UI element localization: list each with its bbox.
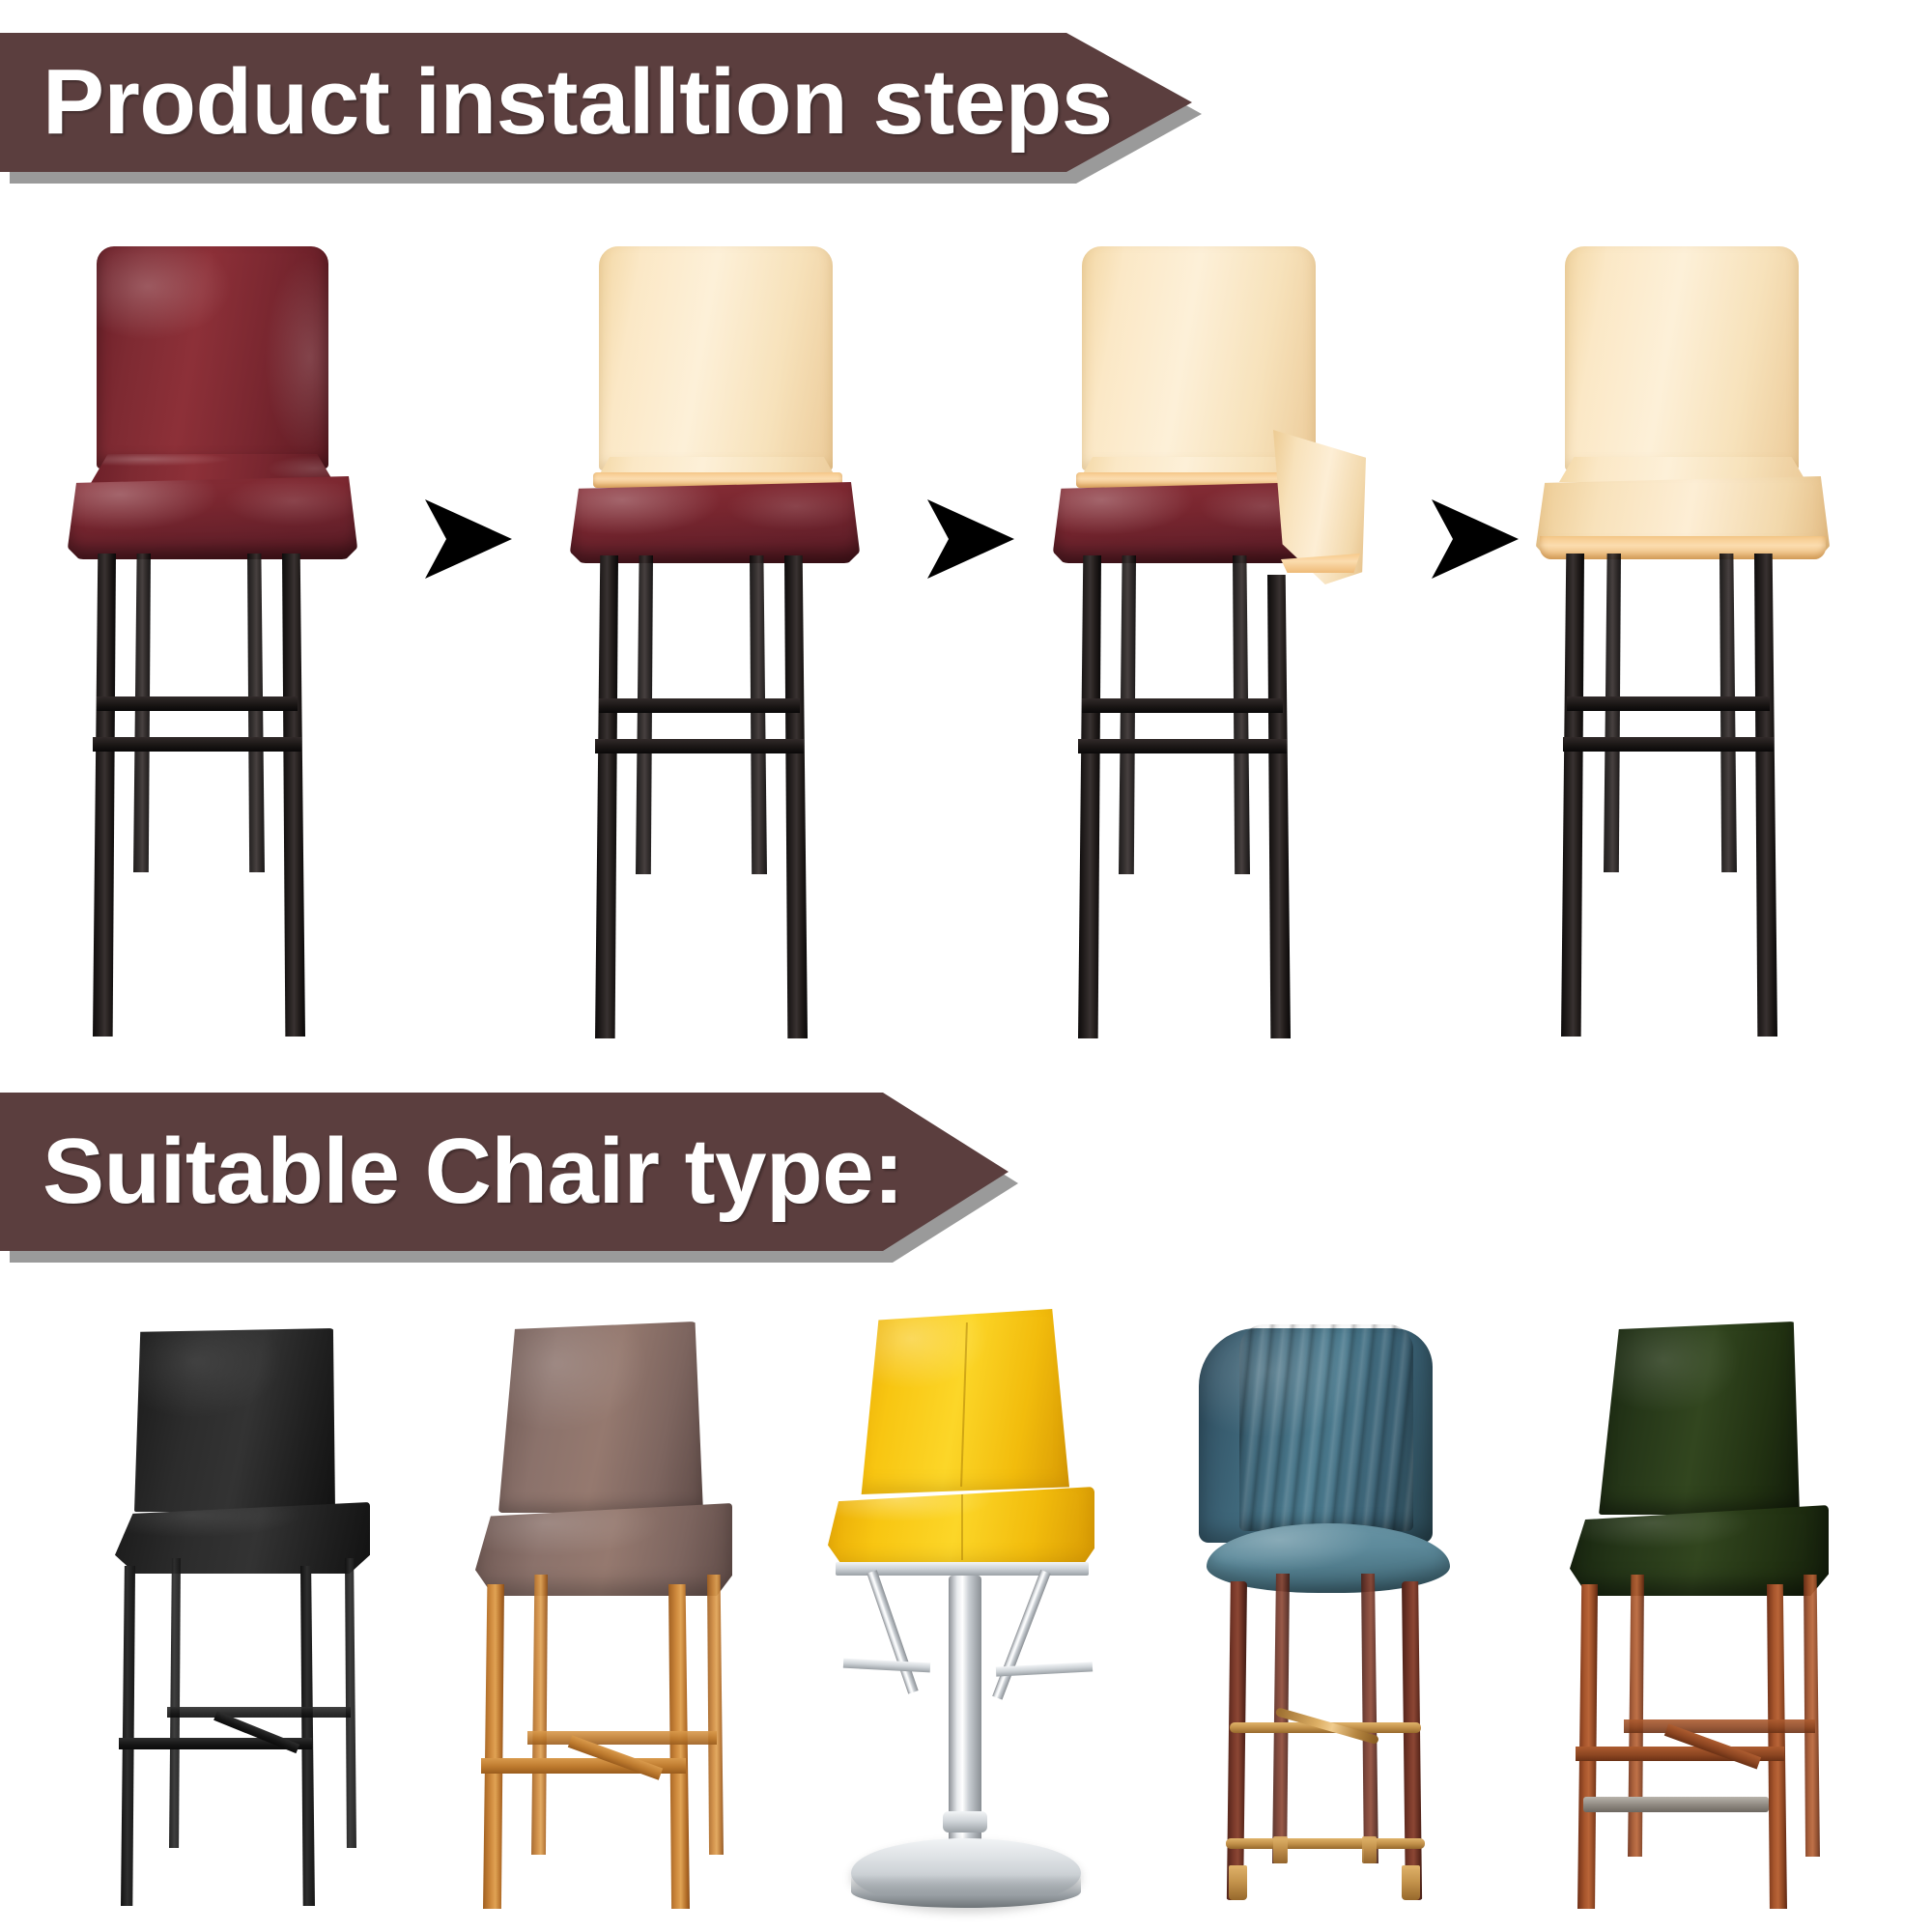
chair-stretcher-front bbox=[1082, 698, 1283, 713]
suitable-chair-green-velvet bbox=[1550, 1321, 1850, 1920]
chair-stretcher-front bbox=[97, 696, 298, 711]
chair-leg-back-right bbox=[1804, 1575, 1820, 1857]
chair-seat bbox=[475, 1503, 732, 1596]
chair-stretcher-front bbox=[1567, 696, 1770, 711]
chair-footrest-brass-lower bbox=[1226, 1838, 1425, 1849]
chair-seat bbox=[1570, 1505, 1829, 1596]
installation-steps-banner: Product installtion steps bbox=[0, 33, 1192, 172]
banner-body: Suitable Chair type: bbox=[0, 1093, 1009, 1251]
chair-metal-footplate bbox=[1583, 1797, 1769, 1812]
chair-backrest-pleated-panel bbox=[1239, 1324, 1413, 1531]
chair-leg-back-left bbox=[169, 1558, 181, 1848]
chair-leg-front-left bbox=[1078, 555, 1101, 1038]
chair-leg-cap-front-right bbox=[1402, 1865, 1420, 1900]
chair-stretcher-side bbox=[527, 1731, 717, 1745]
chair-frame-crossbar bbox=[843, 1659, 930, 1673]
banner-body: Product installtion steps bbox=[0, 33, 1192, 172]
chair-leg-back-right bbox=[1233, 555, 1250, 874]
chair-frame-strut-right bbox=[992, 1570, 1050, 1700]
chair-leg-front-left bbox=[1561, 554, 1584, 1037]
chair-leg-back-left bbox=[1604, 554, 1621, 872]
chair-backrest bbox=[97, 246, 328, 469]
chair-stretcher-side bbox=[1624, 1719, 1815, 1733]
chair-stretcher-lower bbox=[1563, 737, 1774, 752]
chair-leg-cap-front-left bbox=[1229, 1865, 1247, 1900]
chair-backrest bbox=[134, 1328, 335, 1512]
suitable-chair-type-title: Suitable Chair type: bbox=[0, 1119, 904, 1225]
suitable-chair-yellow-swivel bbox=[816, 1309, 1116, 1927]
chair-leg-front-right bbox=[300, 1566, 315, 1906]
chair-backrest bbox=[498, 1321, 703, 1513]
suitable-chair-type-banner: Suitable Chair type: bbox=[0, 1093, 1009, 1251]
chair-stretcher-lower bbox=[595, 739, 804, 753]
chair-leg-front-left bbox=[1226, 1581, 1247, 1900]
chair-leg-cap-back-right bbox=[1362, 1836, 1377, 1863]
chair-base-disc-rim bbox=[851, 1875, 1081, 1908]
chair-stretcher-front bbox=[599, 698, 800, 713]
chair-footrest-side bbox=[167, 1707, 351, 1718]
chair-leg-back-right bbox=[247, 554, 265, 872]
chair-leg-back-left bbox=[636, 555, 653, 874]
chair-backrest bbox=[1599, 1321, 1800, 1515]
chair-seat bbox=[68, 476, 357, 559]
chair-frame-strut-left bbox=[867, 1570, 918, 1693]
chair-leg-front-left bbox=[595, 555, 618, 1038]
chair-seat bbox=[115, 1502, 370, 1574]
install-step-3-chair bbox=[1053, 246, 1401, 1048]
chair-stretcher-lower bbox=[1078, 739, 1287, 753]
chair-leg-back-right bbox=[707, 1575, 724, 1855]
chair-leg-front-right bbox=[668, 1584, 690, 1909]
chair-backrest-cover bbox=[1565, 246, 1799, 470]
suitable-chair-black-leather bbox=[92, 1328, 382, 1908]
chair-leg-front-right bbox=[1402, 1581, 1423, 1900]
chair-leg-front-right bbox=[1754, 554, 1777, 1037]
chair-leg-back-left bbox=[1628, 1575, 1644, 1857]
install-step-1-chair bbox=[68, 246, 386, 1048]
chair-leg-back-right bbox=[750, 555, 767, 874]
chair-gas-lift-collar bbox=[943, 1811, 987, 1833]
suitable-chair-blue-velvet bbox=[1183, 1309, 1483, 1927]
chair-leg-front-left bbox=[93, 554, 116, 1037]
chair-leg-back-left bbox=[1119, 555, 1136, 874]
chair-leg-front-right bbox=[1267, 575, 1291, 1038]
install-step-2-chair bbox=[570, 246, 889, 1048]
chair-leg-front-left bbox=[121, 1566, 135, 1906]
chair-seat-exposed bbox=[570, 482, 860, 563]
chair-leg-front-left bbox=[483, 1584, 504, 1909]
installation-steps-title: Product installtion steps bbox=[0, 49, 1113, 156]
chair-leg-front-right bbox=[282, 554, 305, 1037]
chair-backrest-cover bbox=[599, 246, 833, 470]
chair-leg-cap-back-left bbox=[1273, 1836, 1288, 1863]
chair-leg-front-right bbox=[784, 555, 808, 1038]
chair-leg-back-left bbox=[133, 554, 151, 872]
suitable-chair-taupe-leather bbox=[454, 1321, 753, 1920]
chair-leg-back-left bbox=[531, 1575, 548, 1855]
install-step-4-chair bbox=[1536, 246, 1864, 1048]
chair-stretcher-lower bbox=[93, 737, 301, 752]
chair-seat-seam bbox=[961, 1494, 963, 1560]
chair-leg-back-right bbox=[1719, 554, 1737, 872]
chair-leg-back-right bbox=[345, 1558, 356, 1848]
chair-leg-back-right bbox=[1361, 1574, 1378, 1863]
